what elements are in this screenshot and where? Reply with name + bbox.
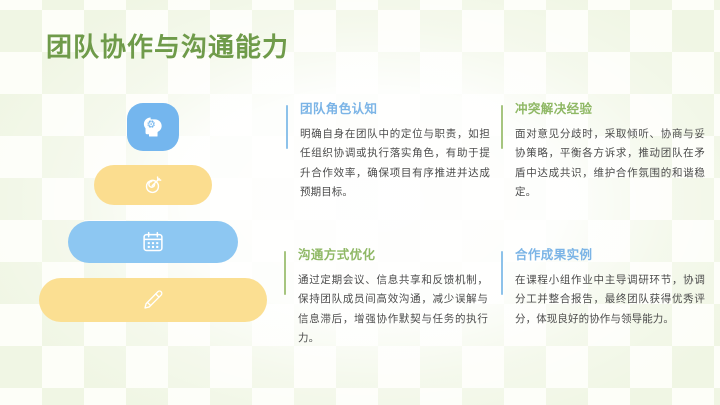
info-block-3-body: 通过定期会议、信息共享和反馈机制，保持团队成员间高效沟通，减少误解与信息滞后，增… <box>298 271 488 349</box>
info-block-2-body: 面对意见分歧时，采取倾听、协商与妥协策略，平衡各方诉求，推动团队在矛盾中达成共识… <box>515 125 705 203</box>
pyramid-level-2[interactable] <box>94 165 212 205</box>
pyramid-level-1[interactable] <box>127 103 179 151</box>
info-block-1: 团队角色认知 明确自身在团队中的定位与职责，如担任组织协调或执行落实角色，有助于… <box>286 103 490 202</box>
target-dart-icon <box>141 174 164 197</box>
accent-bar <box>501 105 503 149</box>
info-block-4-heading: 合作成果实例 <box>515 249 705 263</box>
info-block-3-heading: 沟通方式优化 <box>298 249 488 263</box>
pen-icon <box>141 289 164 312</box>
pyramid-level-4[interactable] <box>39 278 267 322</box>
pyramid-level-3[interactable] <box>68 221 238 263</box>
calendar-icon <box>140 229 166 255</box>
info-block-4: 合作成果实例 在课程小组作业中主导调研环节，协调分工并整合报告，最终团队获得优秀… <box>501 249 705 329</box>
accent-bar <box>286 105 288 149</box>
accent-bar <box>284 251 286 295</box>
slide-root: 团队协作与沟通能力 <box>0 0 720 405</box>
info-block-1-heading: 团队角色认知 <box>300 103 490 117</box>
pyramid-diagram <box>0 103 305 331</box>
brain-gear-icon <box>140 114 166 140</box>
info-block-4-body: 在课程小组作业中主导调研环节，协调分工并整合报告，最终团队获得优秀评分，体现良好… <box>515 271 705 329</box>
info-block-2-heading: 冲突解决经验 <box>515 103 705 117</box>
info-block-1-body: 明确自身在团队中的定位与职责，如担任组织协调或执行落实角色，有助于提升合作效率，… <box>300 125 490 203</box>
info-block-3: 沟通方式优化 通过定期会议、信息共享和反馈机制，保持团队成员间高效沟通，减少误解… <box>284 249 488 348</box>
page-title: 团队协作与沟通能力 <box>46 27 289 64</box>
info-block-2: 冲突解决经验 面对意见分歧时，采取倾听、协商与妥协策略，平衡各方诉求，推动团队在… <box>501 103 705 202</box>
accent-bar <box>501 251 503 295</box>
